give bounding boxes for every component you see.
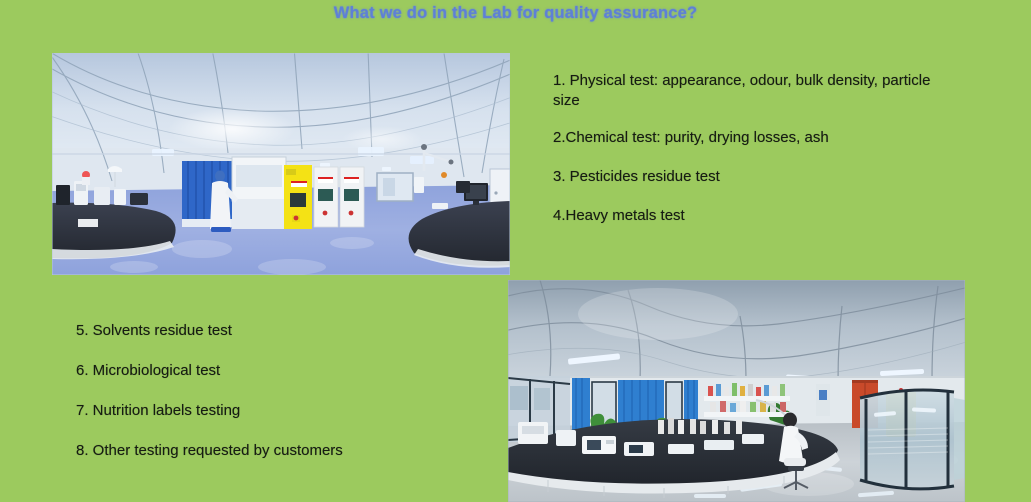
left-test-list: 5. Solvents residue test 6. Microbiologi… xyxy=(76,321,496,481)
list-item: 4.Heavy metals test xyxy=(553,206,953,226)
slide-canvas: What we do in the Lab for quality assura… xyxy=(0,0,1031,502)
list-item: 3. Pesticides residue test xyxy=(553,167,953,187)
list-item: 7. Nutrition labels testing xyxy=(76,401,496,421)
list-item: 5. Solvents residue test xyxy=(76,321,496,341)
list-item: 8. Other testing requested by customers xyxy=(76,441,496,461)
list-item: 6. Microbiological test xyxy=(76,361,496,381)
page-title: What we do in the Lab for quality assura… xyxy=(0,4,1031,23)
lab-panorama-top-image xyxy=(52,53,510,275)
list-item: 2.Chemical test: purity, drying losses, … xyxy=(553,128,953,148)
lab-panorama-bottom-image xyxy=(508,280,965,502)
list-item: 1. Physical test: appearance, odour, bul… xyxy=(553,71,953,111)
right-test-list: 1. Physical test: appearance, odour, bul… xyxy=(553,71,953,245)
